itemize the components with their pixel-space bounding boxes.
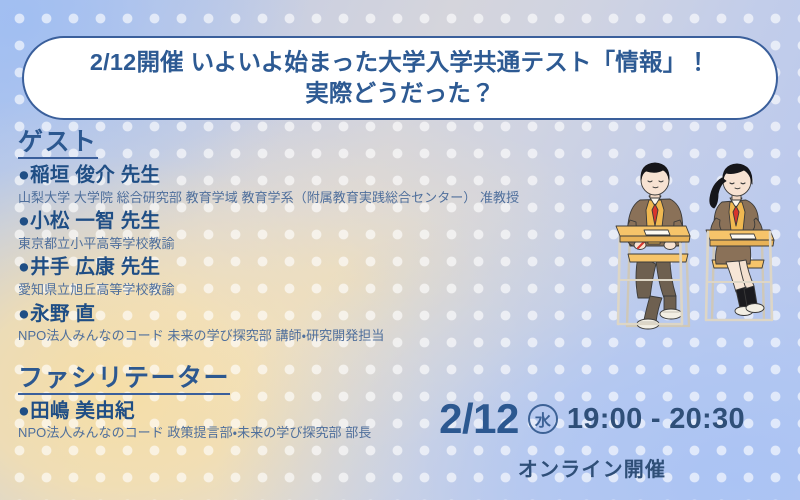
- guest-section-heading: ゲスト: [18, 128, 98, 159]
- guest-affiliation-1: 山梨大学 大学院 総合研究部 教育学域 教育学系（附属教育実践総合センター） 准…: [18, 189, 618, 207]
- guest-entry-1: ●稲垣 俊介 先生 山梨大学 大学院 総合研究部 教育学域 教育学系（附属教育実…: [18, 163, 618, 207]
- guest-entry-2: ●小松 一智 先生 東京都立小平高等学校教諭: [18, 209, 618, 253]
- guest-entry-3: ●井手 広康 先生 愛知県立旭丘高等学校教諭: [18, 255, 618, 299]
- day-of-week-badge: 水: [528, 404, 558, 434]
- students-illustration: [594, 148, 794, 348]
- guest-entry-4: ●永野 直 NPO法人みんなのコード 未来の学び探究部 講師・研究開発担当: [18, 302, 618, 346]
- event-date: 2/12: [439, 398, 519, 440]
- event-time: 19:00 - 20:30: [567, 405, 745, 434]
- guest-name-1: ●稲垣 俊介 先生: [18, 163, 618, 189]
- student-boy: [616, 163, 690, 329]
- title-pill: 2/12開催 いよいよ始まった大学入学共通テスト「情報」！ 実際どうだった？: [22, 36, 778, 120]
- student-girl: [706, 164, 774, 320]
- guest-name-3: ●井手 広康 先生: [18, 255, 618, 281]
- guest-name-2: ●小松 一智 先生: [18, 209, 618, 235]
- schedule-datetime-row: 2/12 水 19:00 - 20:30: [412, 398, 772, 440]
- guest-name-4: ●永野 直: [18, 302, 618, 328]
- event-format: オンライン開催: [412, 453, 772, 482]
- section-spacer: [18, 348, 618, 364]
- event-banner: 2/12開催 いよいよ始まった大学入学共通テスト「情報」！ 実際どうだった？ ゲ…: [0, 0, 800, 500]
- guest-affiliation-4: NPO法人みんなのコード 未来の学び探究部 講師・研究開発担当: [18, 327, 618, 345]
- title-line-1: 2/12開催 いよいよ始まった大学入学共通テスト「情報」！: [90, 48, 710, 77]
- facilitator-section-heading: ファシリテーター: [18, 364, 230, 395]
- guest-affiliation-3: 愛知県立旭丘高等学校教諭: [18, 281, 618, 299]
- guest-affiliation-2: 東京都立小平高等学校教諭: [18, 235, 618, 253]
- title-line-2: 実際どうだった？: [305, 79, 495, 108]
- schedule-block: 2/12 水 19:00 - 20:30 オンライン開催: [412, 398, 772, 482]
